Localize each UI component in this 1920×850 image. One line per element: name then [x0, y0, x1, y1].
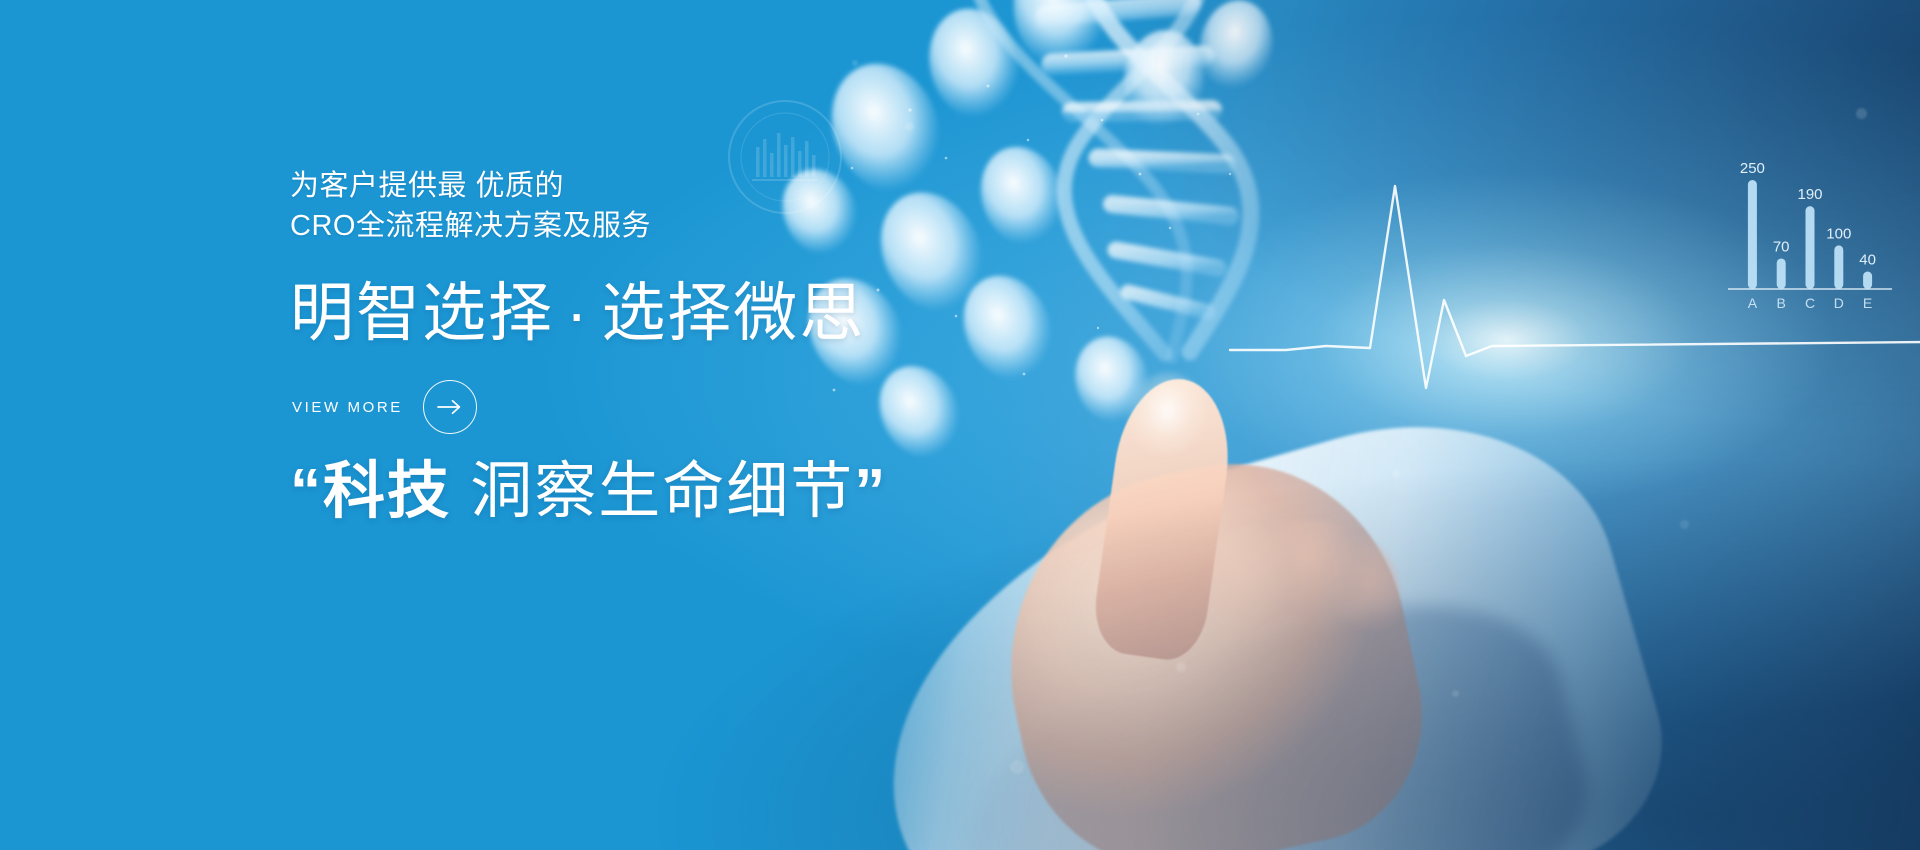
banner-subtitle: 为客户提供最 优质的 CRO全流程解决方案及服务: [290, 166, 651, 246]
chart-value-label: 190: [1797, 186, 1822, 203]
headline-part-2: 选择微思: [601, 277, 865, 349]
tagline-open-quote: “: [290, 457, 323, 526]
chart-category-label: B: [1777, 295, 1786, 311]
chart-bar: [1777, 258, 1786, 289]
bar-chart-overlay: 250A70B190C100D40E: [1714, 146, 1910, 326]
chart-value-label: 100: [1826, 225, 1851, 242]
bokeh-particle: [1452, 690, 1459, 697]
headline-part-1: 明智选择: [290, 277, 554, 349]
bokeh-particle: [1856, 108, 1867, 119]
bokeh-particle: [1392, 470, 1400, 478]
subtitle-line-1: 为客户提供最 优质的: [290, 170, 564, 202]
bokeh-particle: [1176, 662, 1186, 672]
chart-bar: [1863, 272, 1872, 289]
chart-category-label: D: [1834, 295, 1844, 311]
arrow-right-icon[interactable]: [423, 380, 477, 434]
chart-bar: [1748, 180, 1757, 289]
hero-banner: 250A70B190C100D40E 为客户提供最 优质的 CRO全流程解决方案…: [0, 0, 1920, 850]
chart-value-label: 70: [1773, 238, 1790, 255]
banner-content: 为客户提供最 优质的 CRO全流程解决方案及服务 明智选择·选择微思 VIEW …: [290, 0, 1050, 850]
view-more-label: VIEW MORE: [292, 399, 403, 416]
chart-bar: [1806, 206, 1815, 289]
chart-value-label: 40: [1859, 252, 1876, 269]
chart-value-label: 250: [1740, 160, 1765, 177]
tagline-close-quote: ”: [854, 457, 887, 526]
chart-category-label: E: [1863, 295, 1872, 311]
page-title: 明智选择·选择微思: [290, 272, 865, 354]
chart-category-label: A: [1748, 295, 1758, 311]
chart-category-label: C: [1805, 295, 1815, 311]
tagline-strong: 科技: [323, 457, 451, 526]
tagline-rest: 洞察生命细节: [451, 457, 854, 526]
headline-separator: ·: [554, 277, 601, 349]
chart-bar: [1834, 245, 1843, 289]
view-more-button[interactable]: VIEW MORE: [292, 380, 477, 434]
subtitle-line-2: CRO全流程解决方案及服务: [290, 206, 651, 246]
banner-tagline: “科技 洞察生命细节”: [290, 452, 887, 532]
bokeh-particle: [1680, 520, 1689, 529]
